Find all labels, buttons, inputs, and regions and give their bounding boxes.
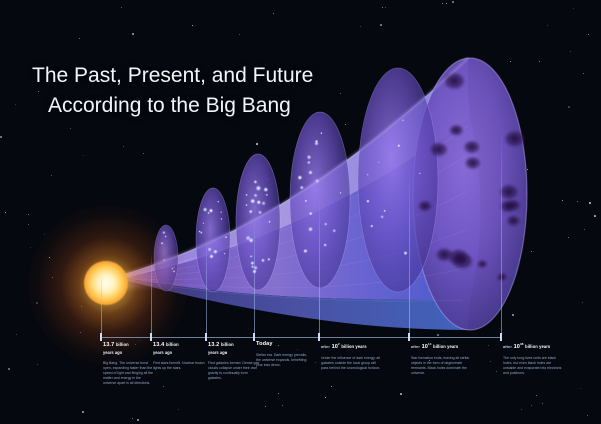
timeline-leader — [206, 236, 207, 333]
timeline-label-first-galaxies: 13.2 billionyears agoFirst galaxies form… — [208, 341, 260, 381]
timeline-tick — [253, 333, 255, 341]
timeline-leader — [409, 168, 410, 333]
timeline-label-body: Big Bang. The universe burst open, expan… — [103, 361, 155, 386]
timeline-leader — [501, 130, 502, 333]
timeline-tick — [205, 333, 207, 341]
timeline-label-big-bang: 13.7 billionyears agoBig Bang. The unive… — [103, 341, 155, 386]
timeline-leader — [319, 196, 320, 333]
timeline-tick — [318, 333, 320, 341]
timeline-tick — [100, 333, 102, 341]
timeline-leader — [254, 218, 255, 333]
timeline-label-horizon-exit: after 102 billion yearsUnder the influen… — [321, 341, 381, 371]
timeline-label-body: Star formation ends, leaving all stellar… — [411, 356, 471, 376]
timeline-label-body: The only long-lived units are black hole… — [503, 356, 563, 376]
timeline-label-body: First galaxies formed. Dense gas clouds … — [208, 361, 260, 381]
timeline-leader — [151, 252, 152, 333]
timeline-label-degenerate-era: after 1014 billion yearsStar formation e… — [411, 341, 471, 376]
timeline-axis — [100, 337, 500, 338]
timeline-label-body: First stars formed. Nuclear fusion light… — [153, 361, 205, 371]
timeline-tick — [500, 333, 502, 341]
timeline-label-body: Under the influence of dark energy, all … — [321, 356, 381, 371]
title-line-2: According to the Big Bang — [48, 91, 362, 121]
page-title: The Past, Present, and Future According … — [32, 61, 362, 121]
timeline-leader — [101, 272, 102, 333]
timeline-label-black-hole-era: after 1038 billion yearsThe only long-li… — [503, 341, 563, 376]
timeline-tick — [408, 333, 410, 341]
infographic-canvas: The Past, Present, and Future According … — [0, 0, 601, 424]
timeline-label-today: TodayStellar era. Dark energy prevails, … — [256, 341, 308, 368]
timeline-label-first-stars: 13.4 billionyears agoFirst stars formed.… — [153, 341, 205, 371]
title-line-1: The Past, Present, and Future — [32, 64, 313, 87]
timeline-tick — [150, 333, 152, 341]
bigbang-core — [84, 261, 128, 305]
timeline-label-body: Stellar era. Dark energy prevails, the u… — [256, 353, 308, 368]
